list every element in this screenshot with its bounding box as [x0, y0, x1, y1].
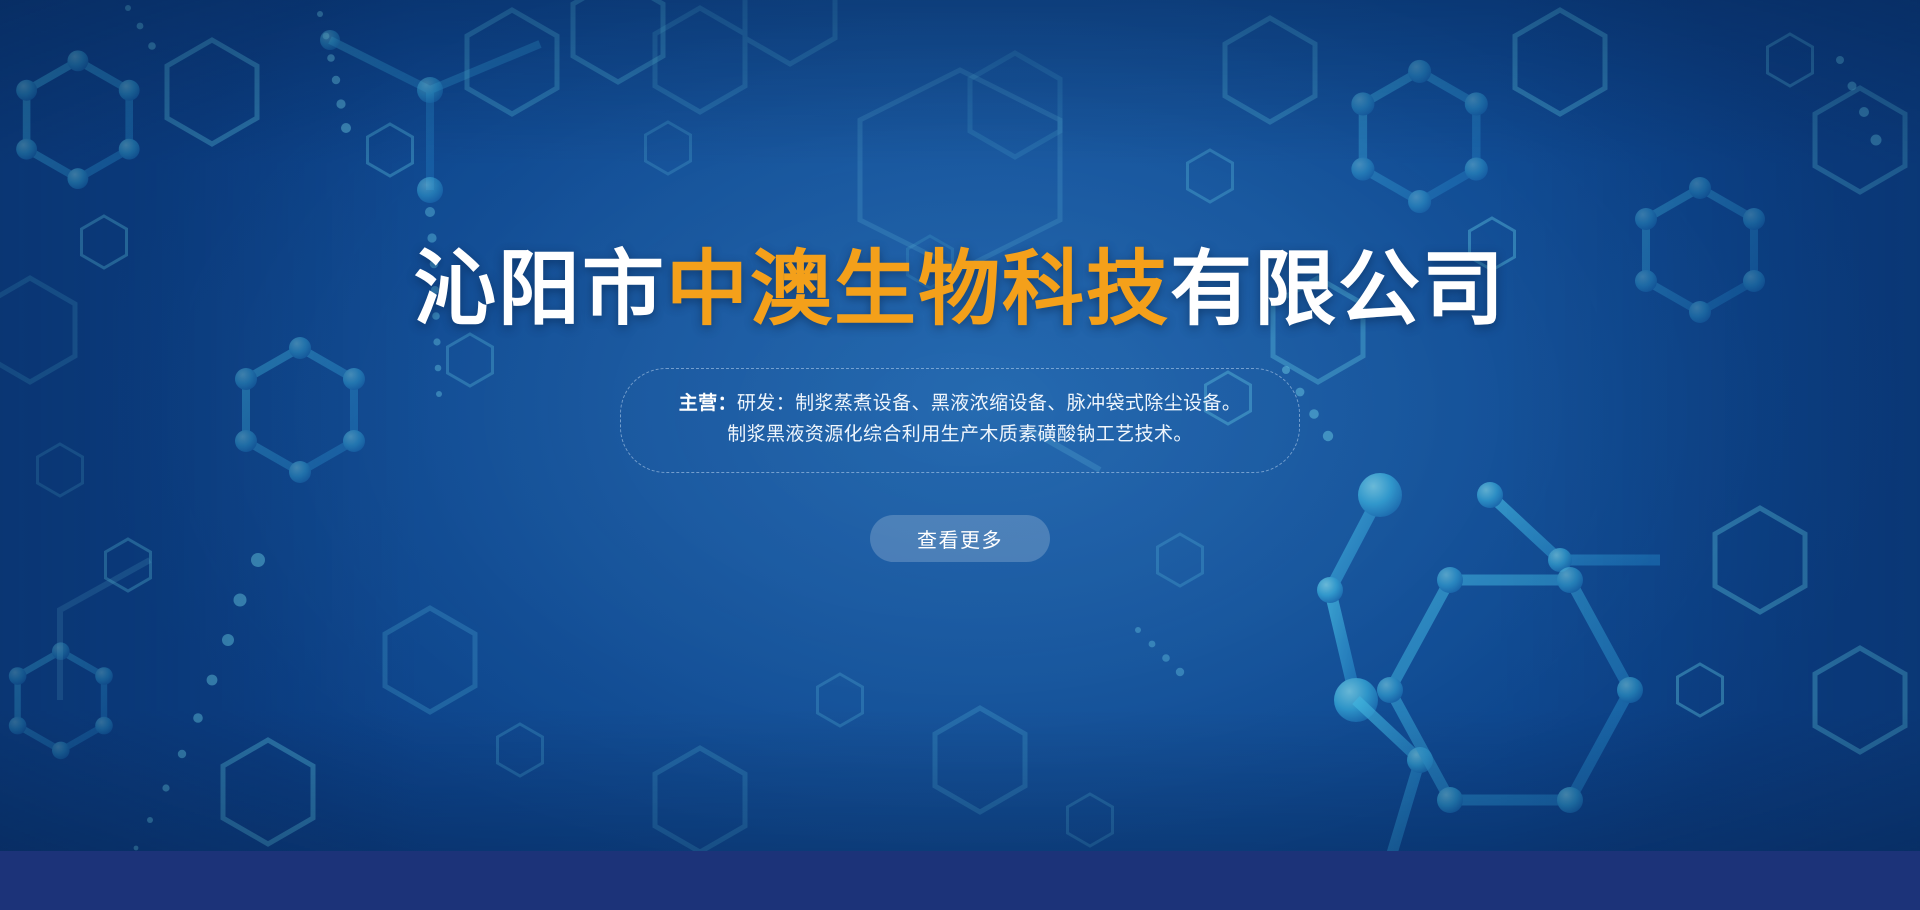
subtitle-line-1-text: 研发：制浆蒸煮设备、黑液浓缩设备、脉冲袋式除尘设备。 — [737, 392, 1241, 414]
subtitle-line-1: 主营：研发：制浆蒸煮设备、黑液浓缩设备、脉冲袋式除尘设备。 — [679, 388, 1242, 419]
title-highlight: 中澳生物科技 — [666, 242, 1170, 337]
hero-banner: 沁阳市中澳生物科技有限公司 主营：研发：制浆蒸煮设备、黑液浓缩设备、脉冲袋式除尘… — [0, 0, 1920, 910]
title-suffix: 有限公司 — [1170, 242, 1506, 337]
view-more-button[interactable]: 查看更多 — [870, 515, 1050, 562]
subtitle-line-2: 制浆黑液资源化综合利用生产木质素磺酸钠工艺技术。 — [679, 419, 1242, 450]
subtitle-box: 主营：研发：制浆蒸煮设备、黑液浓缩设备、脉冲袋式除尘设备。 制浆黑液资源化综合利… — [620, 368, 1301, 473]
page-title: 沁阳市中澳生物科技有限公司 — [414, 247, 1506, 334]
title-prefix: 沁阳市 — [414, 242, 666, 337]
subtitle-lead: 主营： — [679, 392, 737, 414]
bottom-bar — [0, 851, 1920, 910]
hero-content: 沁阳市中澳生物科技有限公司 主营：研发：制浆蒸煮设备、黑液浓缩设备、脉冲袋式除尘… — [0, 0, 1920, 851]
